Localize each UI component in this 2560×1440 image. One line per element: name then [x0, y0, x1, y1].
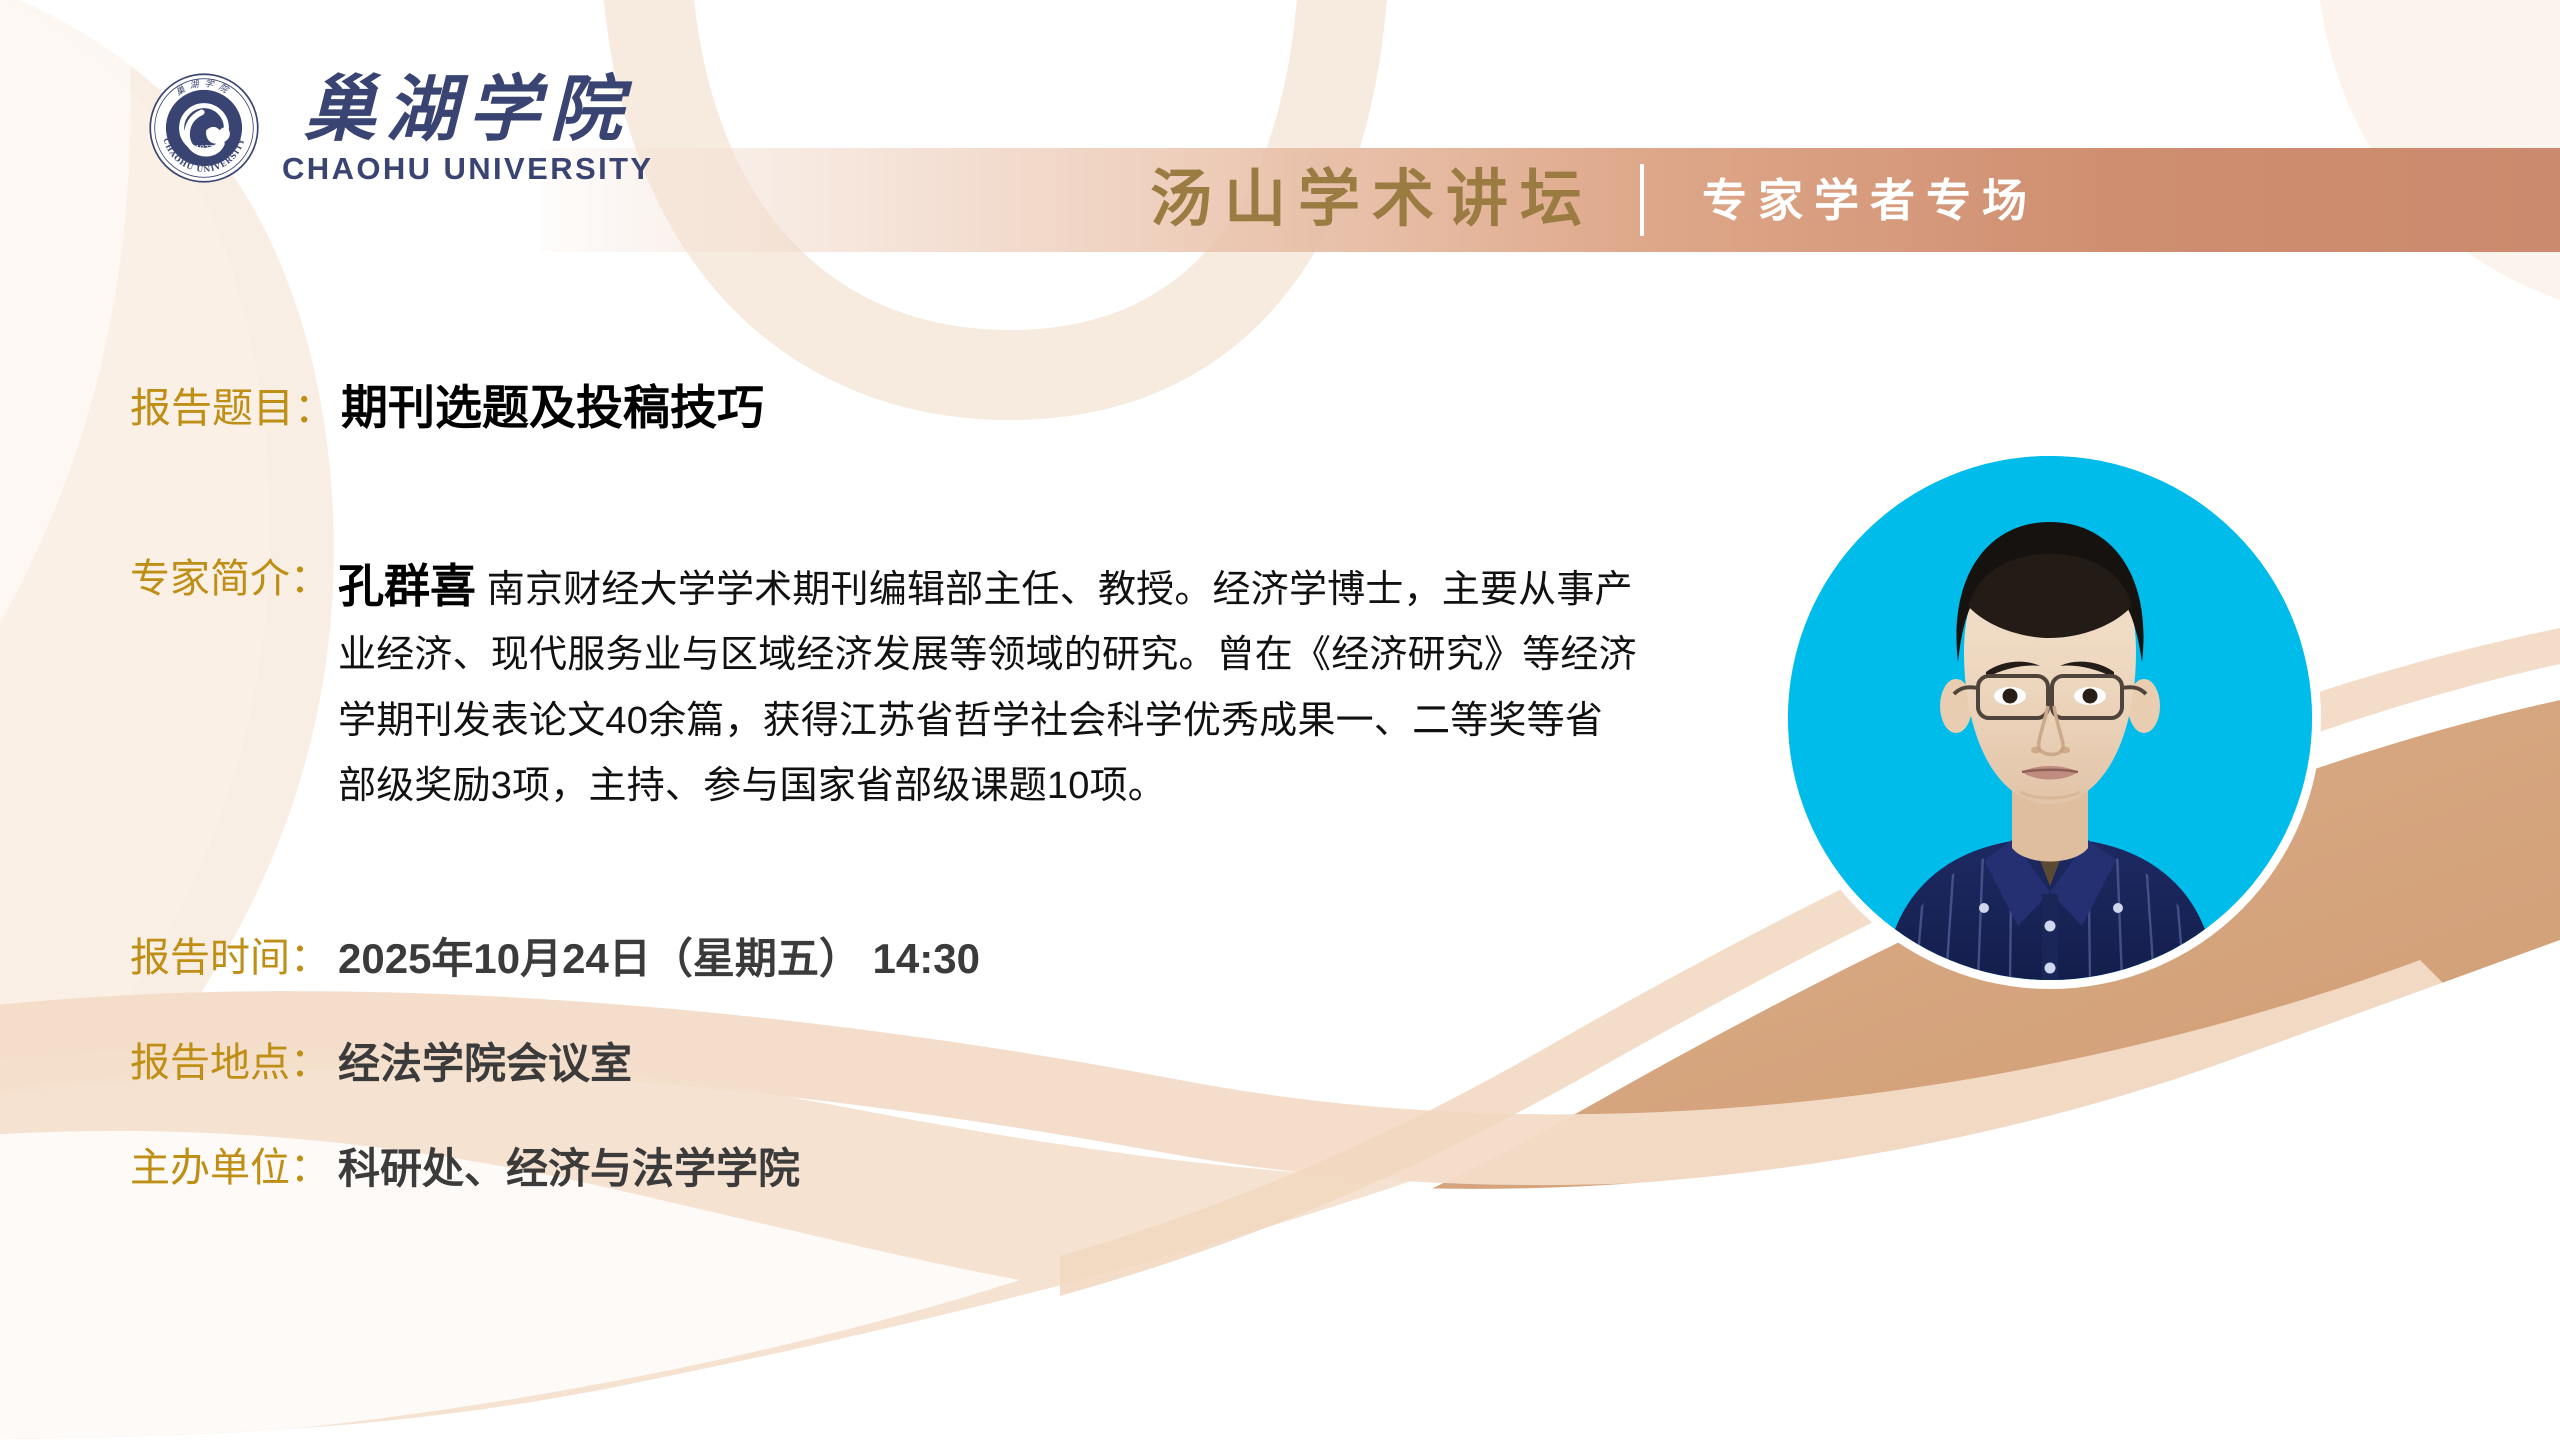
time-value: 2025年10月24日（星期五） 14:30 — [338, 935, 980, 983]
banner-title-group: 汤山学术讲坛 专家学者专场 — [1150, 148, 2038, 252]
topic-value: 期刊选题及投稿技巧 — [341, 381, 764, 435]
university-seal-icon: 1977 CHAOHU UNIVERSITY 巢湖学院 — [148, 72, 260, 184]
row-topic: 报告题目： 期刊选题及投稿技巧 — [130, 385, 764, 439]
speaker-portrait — [1788, 456, 2312, 980]
logo-name-en: CHAOHU UNIVERSITY — [282, 153, 654, 184]
speaker-portrait-illustration — [1788, 456, 2312, 980]
banner-main-title: 汤山学术讲坛 — [1150, 169, 1594, 231]
row-bio: 专家简介： 孔群喜 南京财经大学学术期刊编辑部主任、教授。经济学博士，主要从事产… — [130, 550, 1638, 819]
place-value: 经法学院会议室 — [338, 1040, 632, 1088]
bio-label: 专家简介： — [130, 550, 330, 602]
banner-subtitle: 专家学者专场 — [1702, 178, 2038, 223]
host-value: 科研处、经济与法学学院 — [338, 1145, 800, 1193]
bio-text: 南京财经大学学术期刊编辑部主任、教授。经济学博士，主要从事产业经济、现代服务业与… — [338, 569, 1637, 807]
speaker-name: 孔群喜 — [338, 560, 476, 612]
university-logo: 1977 CHAOHU UNIVERSITY 巢湖学院 巢湖学院 CHAOHU … — [148, 72, 654, 184]
time-label: 报告时间： — [130, 935, 330, 981]
row-time: 报告时间： 2025年10月24日（星期五） 14:30 — [130, 935, 980, 983]
logo-wordmark: 巢湖学院 CHAOHU UNIVERSITY — [282, 73, 654, 184]
banner-divider — [1640, 164, 1644, 236]
place-label: 报告地点： — [130, 1040, 330, 1086]
poster-canvas: 1977 CHAOHU UNIVERSITY 巢湖学院 巢湖学院 CHAOHU … — [0, 0, 2560, 1440]
logo-name-cn: 巢湖学院 — [304, 73, 632, 145]
row-host: 主办单位： 科研处、经济与法学学院 — [130, 1145, 800, 1193]
topic-label: 报告题目： — [130, 385, 335, 432]
bio-body: 孔群喜 南京财经大学学术期刊编辑部主任、教授。经济学博士，主要从事产业经济、现代… — [338, 550, 1638, 819]
host-label: 主办单位： — [130, 1145, 330, 1191]
svg-text:1977: 1977 — [195, 143, 214, 152]
row-place: 报告地点： 经法学院会议室 — [130, 1040, 632, 1088]
